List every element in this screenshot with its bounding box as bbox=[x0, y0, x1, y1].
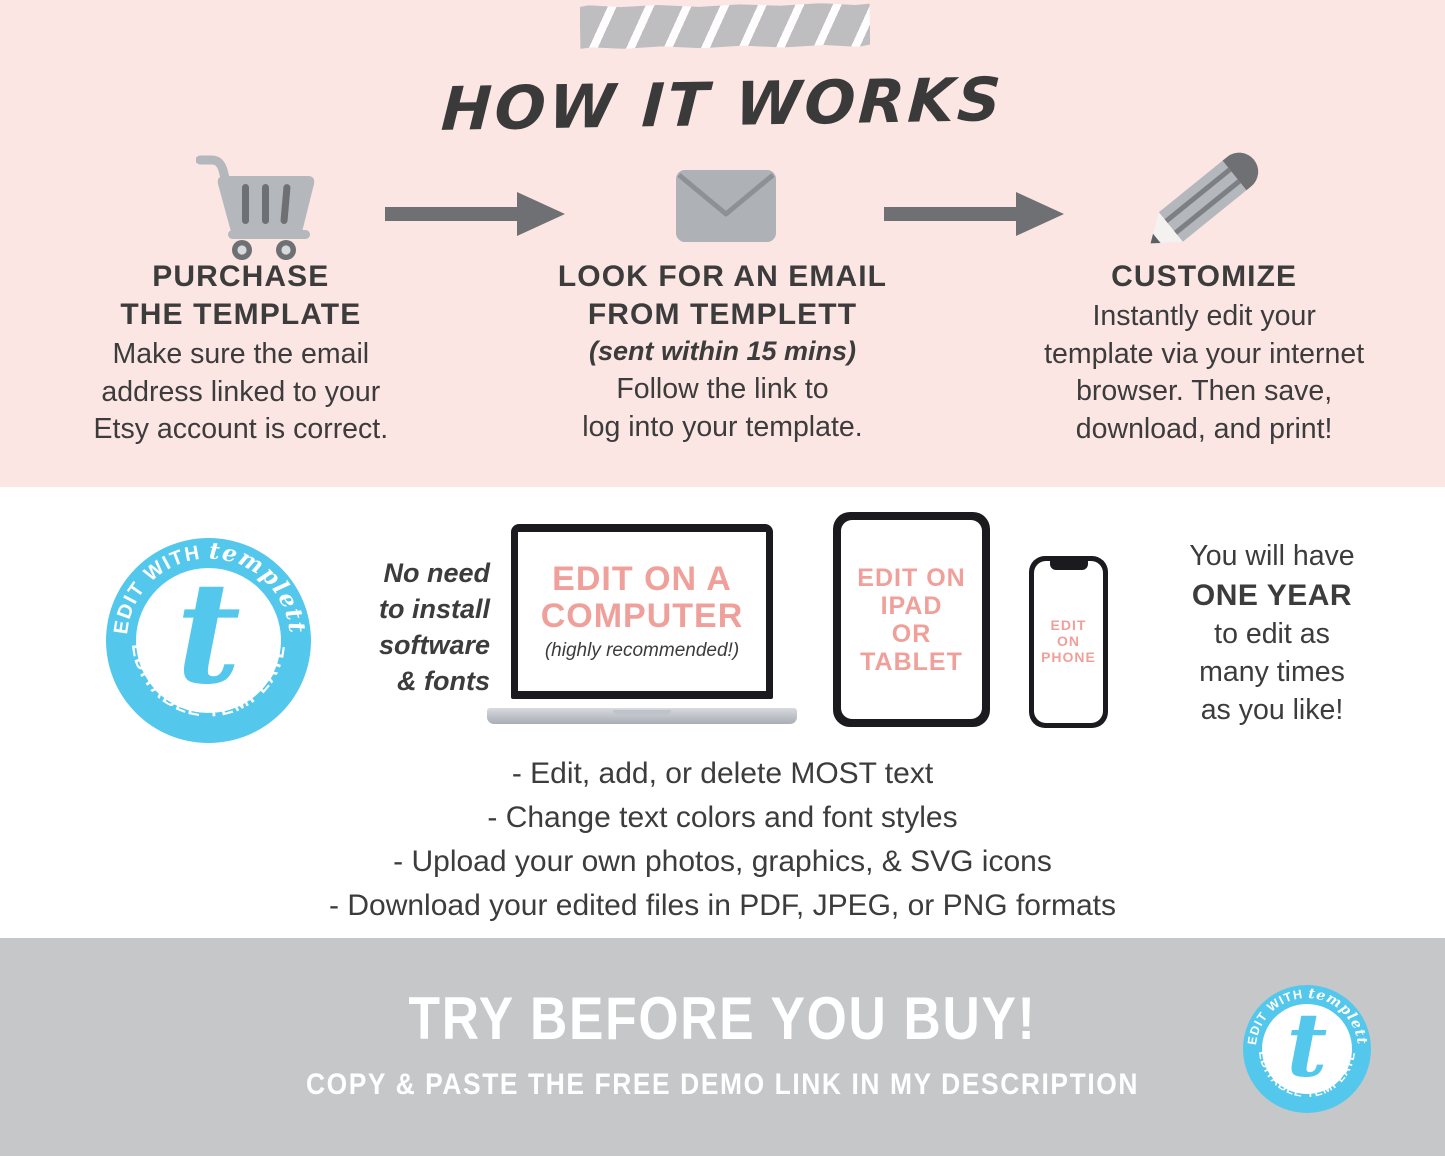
laptop-hinge-notch bbox=[613, 710, 671, 715]
try-before-you-buy-footer: TRY BEFORE YOU BUY! COPY & PASTE THE FRE… bbox=[0, 938, 1445, 1156]
no-install-note: No need to install software & fonts bbox=[318, 556, 490, 700]
laptop-title: EDIT ON A COMPUTER bbox=[541, 561, 744, 634]
step-italic-note: (sent within 15 mins) bbox=[482, 334, 964, 369]
step-purchase: PURCHASE THE TEMPLATE Make sure the emai… bbox=[0, 258, 482, 449]
step-body: Instantly edit your template via your in… bbox=[963, 298, 1445, 448]
page-title: HOW IT WORKS bbox=[0, 57, 1445, 152]
phone-title: EDIT ON PHONE bbox=[1041, 618, 1096, 665]
tablet-device: EDIT ON IPAD OR TABLET bbox=[833, 512, 990, 727]
how-it-works-section: HOW IT WORKS bbox=[0, 0, 1445, 487]
list-item: - Edit, add, or delete MOST text bbox=[0, 752, 1445, 796]
badge-letter-t: t bbox=[1243, 985, 1371, 1113]
arrow-right-icon bbox=[385, 192, 565, 236]
shopping-cart-icon bbox=[196, 152, 316, 260]
one-year-note: You will have ONE YEAR to edit as many t… bbox=[1123, 538, 1421, 729]
footer-title: TRY BEFORE YOU BUY! bbox=[101, 984, 1344, 1053]
list-item: - Change text colors and font styles bbox=[0, 796, 1445, 840]
step-heading: CUSTOMIZE bbox=[963, 258, 1445, 296]
phone-screen: EDIT ON PHONE bbox=[1034, 561, 1103, 723]
laptop-subtitle: (highly recommended!) bbox=[545, 640, 739, 662]
one-year-highlight: ONE YEAR bbox=[1123, 576, 1421, 616]
step-heading: PURCHASE THE TEMPLATE bbox=[0, 258, 482, 334]
templett-badge: EDIT WITH templett EDITABLE TEMPLATE t bbox=[106, 538, 311, 743]
phone-notch bbox=[1050, 561, 1088, 570]
laptop-lid: EDIT ON A COMPUTER (highly recommended!) bbox=[511, 524, 773, 699]
pencil-icon bbox=[1133, 150, 1263, 260]
washi-tape-icon bbox=[580, 3, 870, 50]
envelope-icon bbox=[676, 170, 776, 242]
step-customize: CUSTOMIZE Instantly edit your template v… bbox=[963, 258, 1445, 449]
list-item: - Download your edited files in PDF, JPE… bbox=[0, 884, 1445, 928]
step-look-for-email: LOOK FOR AN EMAIL FROM TEMPLETT (sent wi… bbox=[482, 258, 964, 449]
laptop-screen: EDIT ON A COMPUTER (highly recommended!) bbox=[518, 532, 766, 691]
steps-columns: PURCHASE THE TEMPLATE Make sure the emai… bbox=[0, 258, 1445, 449]
laptop-device: EDIT ON A COMPUTER (highly recommended!) bbox=[487, 524, 797, 724]
badge-letter-t: t bbox=[106, 538, 311, 743]
step-heading: LOOK FOR AN EMAIL FROM TEMPLETT bbox=[482, 258, 964, 334]
step-body: Follow the link to log into your templat… bbox=[482, 371, 964, 446]
arrow-right-icon bbox=[884, 192, 1064, 236]
tablet-screen: EDIT ON IPAD OR TABLET bbox=[841, 520, 982, 719]
templett-badge: EDIT WITH templett EDITABLE TEMPLATE t bbox=[1243, 985, 1371, 1113]
step-body: Make sure the email address linked to yo… bbox=[0, 336, 482, 449]
tablet-title: EDIT ON IPAD OR TABLET bbox=[857, 564, 965, 676]
step-icons-row bbox=[0, 150, 1445, 260]
feature-bullet-list: - Edit, add, or delete MOST text - Chang… bbox=[0, 752, 1445, 928]
footer-subtitle: COPY & PASTE THE FREE DEMO LINK IN MY DE… bbox=[87, 1068, 1359, 1102]
phone-device: EDIT ON PHONE bbox=[1029, 556, 1108, 728]
list-item: - Upload your own photos, graphics, & SV… bbox=[0, 840, 1445, 884]
